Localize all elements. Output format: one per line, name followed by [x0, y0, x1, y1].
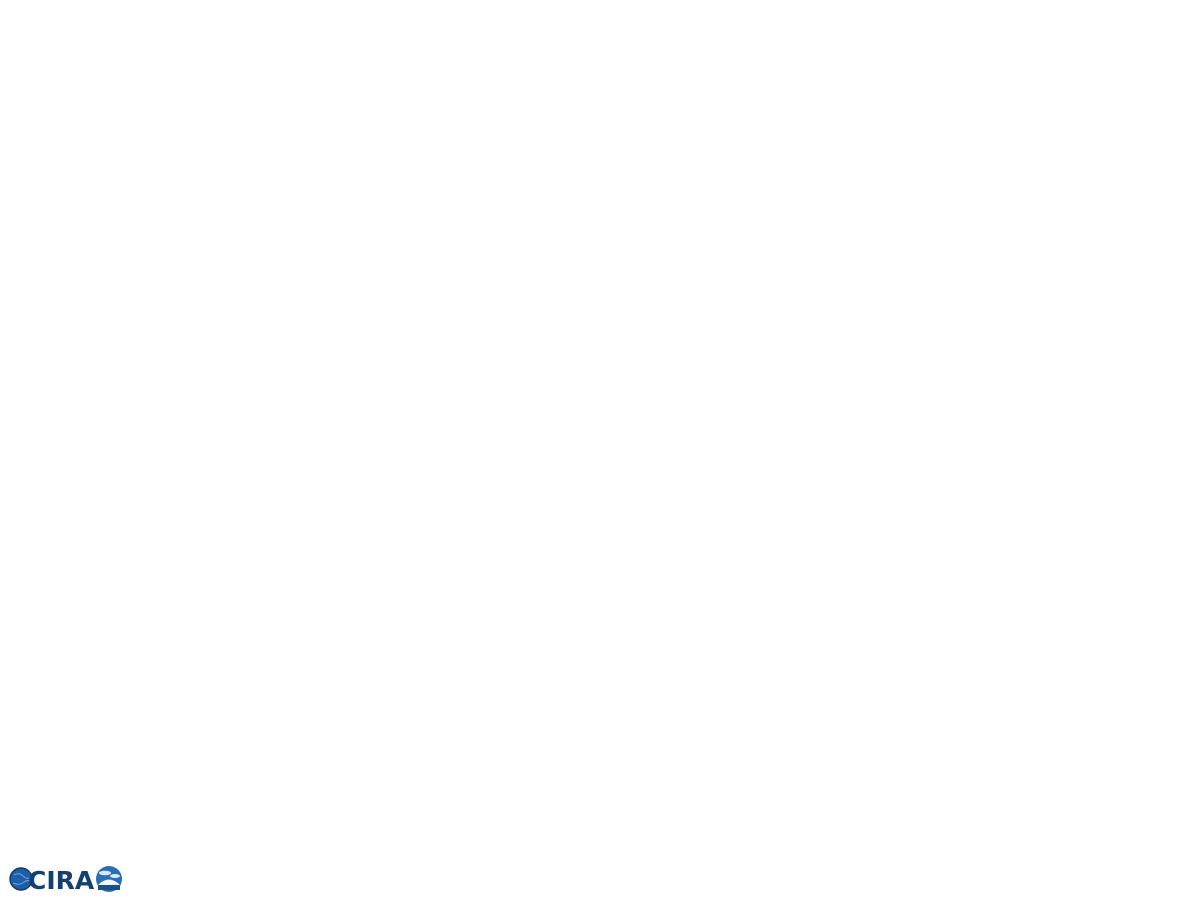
cira-logo-graphic: CIRA — [8, 862, 128, 898]
svg-text:CIRA: CIRA — [28, 866, 95, 895]
page-header — [0, 0, 1200, 30]
cira-logo: CIRA — [8, 862, 128, 898]
